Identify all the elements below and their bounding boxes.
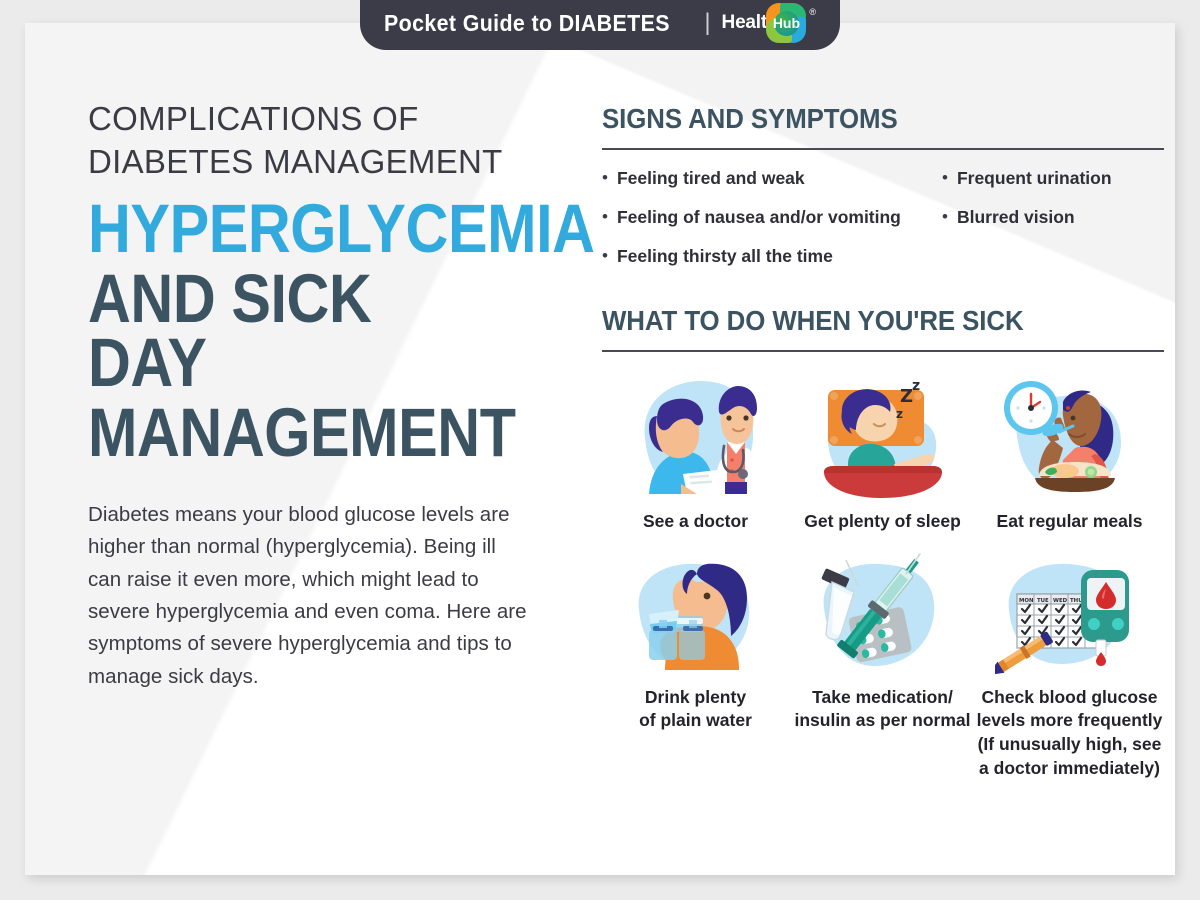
kicker-line-1: COMPLICATIONS OF <box>88 98 558 141</box>
medication-syringe-icon <box>808 548 958 678</box>
sick-day-heading: WHAT TO DO WHEN YOU'RE SICK <box>602 305 1130 337</box>
grid-item: MON TUE WED THU FRI <box>976 548 1163 781</box>
bullet-dot-icon: • <box>602 207 608 227</box>
kicker-line-2: DIABETES MANAGEMENT <box>88 141 558 184</box>
icon-caption: Check blood glucoselevels more frequentl… <box>977 686 1163 781</box>
symptom-text: Feeling tired and weak <box>617 168 805 188</box>
symptoms-bullet-group: • Feeling tired and weak • Feeling of na… <box>602 168 1164 285</box>
registered-trademark-icon: ® <box>809 7 816 17</box>
infographic-page: COMPLICATIONS OF DIABETES MANAGEMENT HYP… <box>0 0 1200 900</box>
banner-title-normal: Pocket Guide to <box>384 10 559 36</box>
left-column: COMPLICATIONS OF DIABETES MANAGEMENT HYP… <box>88 98 558 693</box>
sick-day-icon-grid: See a doctor <box>602 372 1164 780</box>
bullet-dot-icon: • <box>602 168 608 188</box>
logo-core: Hub <box>774 11 799 36</box>
healthhub-logo: Health Hub ® <box>722 3 817 43</box>
symptom-text: Feeling of nausea and/or vomiting <box>617 207 901 227</box>
title-hyperglycemia: HYPERGLYCEMIA <box>88 197 492 261</box>
symptoms-column-left: • Feeling tired and weak • Feeling of na… <box>602 168 942 285</box>
bullet-dot-icon: • <box>942 207 948 227</box>
icon-caption: See a doctor <box>643 510 748 534</box>
logo-text-hub: Hub <box>773 16 800 30</box>
list-item: • Frequent urination <box>942 168 1164 188</box>
icon-caption: Take medication/insulin as per normal <box>794 686 970 733</box>
list-item: • Feeling thirsty all the time <box>602 246 942 266</box>
svg-text:WED: WED <box>1053 598 1068 604</box>
list-item: • Blurred vision <box>942 207 1164 227</box>
bullet-dot-icon: • <box>602 246 608 266</box>
sleeping-person-icon: Z z z <box>808 372 958 502</box>
grid-item: See a doctor <box>602 372 789 534</box>
top-banner-tab: Pocket Guide to DIABETES | Health Hub ® <box>360 0 840 50</box>
banner-title: Pocket Guide to DIABETES <box>384 10 670 37</box>
grid-item: Take medication/insulin as per normal <box>789 548 976 781</box>
drinking-water-icon <box>621 548 771 678</box>
list-item: • Feeling tired and weak <box>602 168 942 188</box>
svg-text:z: z <box>896 407 903 421</box>
heading-divider <box>602 148 1164 150</box>
icon-caption: Get plenty of sleep <box>804 510 961 534</box>
symptom-text: Frequent urination <box>957 168 1112 188</box>
banner-separator: | <box>704 9 710 37</box>
bullet-dot-icon: • <box>942 168 948 188</box>
grid-item: Z z z Get plenty of sleep <box>789 372 976 534</box>
svg-text:z: z <box>912 378 920 394</box>
grid-item: Drink plentyof plain water <box>602 548 789 781</box>
signs-and-symptoms-heading: SIGNS AND SYMPTOMS <box>602 103 1130 135</box>
icon-caption: Eat regular meals <box>997 510 1143 534</box>
svg-text:MON: MON <box>1019 598 1034 604</box>
poster-card: COMPLICATIONS OF DIABETES MANAGEMENT HYP… <box>25 23 1175 875</box>
svg-text:TUE: TUE <box>1037 598 1049 604</box>
glucose-meter-calendar-icon: MON TUE WED THU FRI <box>995 548 1145 678</box>
banner-title-bold: DIABETES <box>559 10 670 36</box>
heading-divider <box>602 350 1164 352</box>
list-item: • Feeling of nausea and/or vomiting <box>602 207 942 227</box>
symptom-text: Feeling thirsty all the time <box>617 246 833 266</box>
svg-text:THU: THU <box>1070 598 1083 604</box>
logo-flower-icon: Hub <box>766 3 806 43</box>
icon-caption: Drink plentyof plain water <box>639 686 752 733</box>
intro-paragraph: Diabetes means your blood glucose levels… <box>88 499 528 693</box>
banner-content: Pocket Guide to DIABETES | Health Hub ® <box>384 3 816 43</box>
title-management: MANAGEMENT <box>88 401 492 465</box>
title-and-sick-day: AND SICK DAY <box>88 267 492 395</box>
symptoms-column-right: • Frequent urination • Blurred vision <box>942 168 1164 285</box>
woman-eating-meal-icon <box>995 372 1145 502</box>
doctor-consultation-icon <box>621 372 771 502</box>
grid-item: Eat regular meals <box>976 372 1163 534</box>
right-column: SIGNS AND SYMPTOMS • Feeling tired and w… <box>602 103 1164 780</box>
symptom-text: Blurred vision <box>957 207 1075 227</box>
